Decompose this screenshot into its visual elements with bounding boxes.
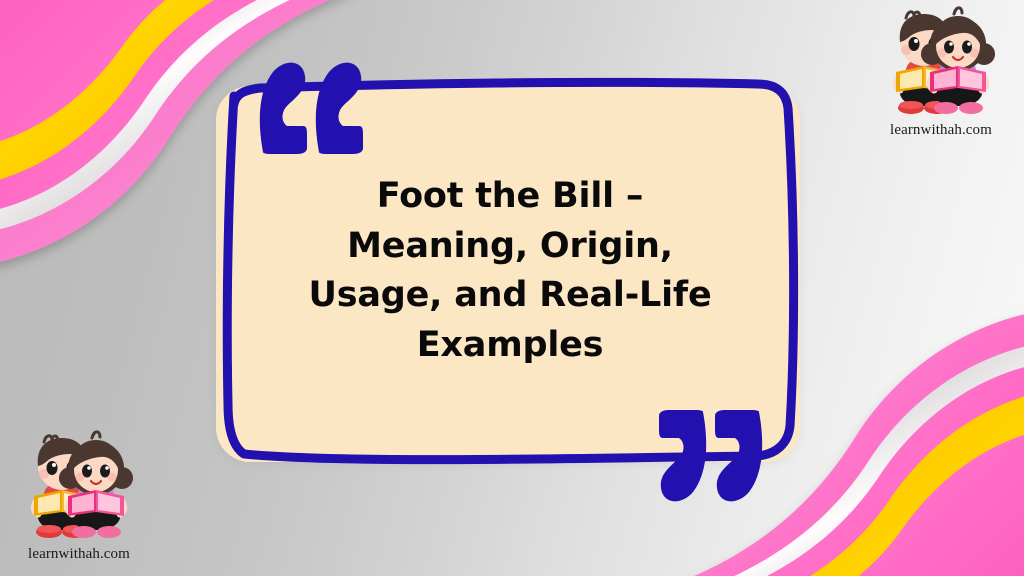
title-line-4: Examples: [250, 321, 770, 371]
title-line-1: Foot the Bill –: [250, 172, 770, 222]
quote-card: Foot the Bill – Meaning, Origin, Usage, …: [198, 74, 818, 478]
title-line-2: Meaning, Origin,: [250, 222, 770, 272]
kids-reading-icon: [4, 426, 154, 548]
logo-site-name: learnwithah.com: [4, 546, 154, 563]
logo-site-name: learnwithah.com: [866, 122, 1016, 139]
quote-open-icon: [253, 60, 371, 156]
logo-bottom-left[interactable]: learnwithah.com: [4, 426, 154, 576]
quote-close-icon: [651, 408, 769, 504]
page-title: Foot the Bill – Meaning, Origin, Usage, …: [250, 172, 770, 371]
poster-canvas: Foot the Bill – Meaning, Origin, Usage, …: [0, 0, 1024, 576]
logo-top-right[interactable]: learnwithah.com: [866, 2, 1016, 152]
kids-reading-icon: [866, 2, 1016, 124]
title-line-3: Usage, and Real-Life: [250, 271, 770, 321]
